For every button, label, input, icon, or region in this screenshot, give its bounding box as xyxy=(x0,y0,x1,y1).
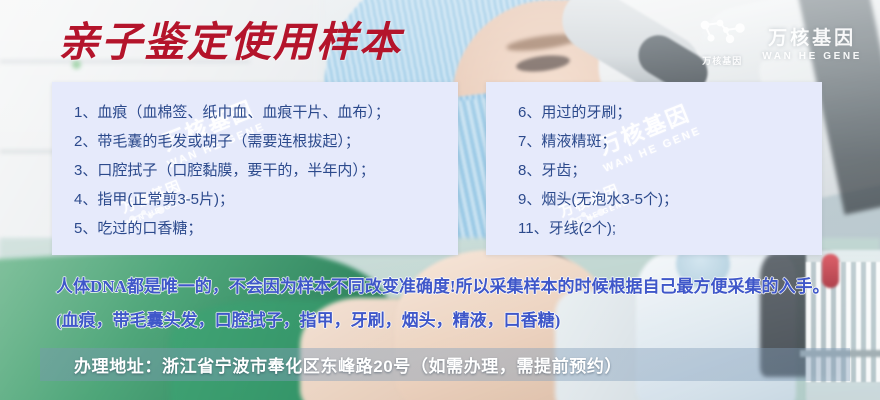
page-title: 亲子鉴定使用样本 xyxy=(58,16,402,68)
poster: 亲子鉴定使用样本 xyxy=(0,0,880,400)
list-item: 3、口腔拭子（口腔黏膜，要干的，半年内）； xyxy=(74,156,458,185)
list-item: 8、牙齿； xyxy=(518,156,822,185)
address-line: 办理地址：浙江省宁波市奉化区东峰路20号（如需办理，需提前预约） xyxy=(74,349,864,380)
brand-logo: 万核基因 万核基因 WAN HE GENE xyxy=(696,18,862,66)
list-item: 1、血痕（血棉签、纸巾血、血痕干片、血布）； xyxy=(74,98,458,127)
list-item: 6、用过的牙刷； xyxy=(518,98,822,127)
list-item: 11、牙线(2个); xyxy=(518,214,822,243)
logo-mark: 万核基因 xyxy=(696,17,748,67)
logo-wordmark: 万核基因 WAN HE GENE xyxy=(762,23,862,62)
logo-name-en: WAN HE GENE xyxy=(762,51,862,62)
logo-mark-label: 万核基因 xyxy=(702,54,742,67)
sample-list-left: 1、血痕（血棉签、纸巾血、血痕干片、血布）； 2、带毛囊的毛发或胡子（需要连根拔… xyxy=(52,82,458,243)
logo-name-cn: 万核基因 xyxy=(768,23,856,50)
list-item: 2、带毛囊的毛发或胡子（需要连根拔起）； xyxy=(74,127,458,156)
list-item: 7、精液精斑； xyxy=(518,127,822,156)
molecule-icon xyxy=(696,17,748,52)
sample-list-card-right: 6、用过的牙刷； 7、精液精斑； 8、牙齿； 9、烟头(无泡水3-5个)； 11… xyxy=(486,82,822,255)
sample-list-right: 6、用过的牙刷； 7、精液精斑； 8、牙齿； 9、烟头(无泡水3-5个)； 11… xyxy=(486,82,822,243)
description-paragraph: 人体DNA都是唯一的，不会因为样本不同改变准确度!所以采集样本的时候根据自己最方… xyxy=(56,270,846,338)
list-item: 9、烟头(无泡水3-5个)； xyxy=(518,185,822,214)
list-item: 5、吃过的口香糖； xyxy=(74,214,458,243)
list-item: 4、指甲(正常剪3-5片)； xyxy=(74,185,458,214)
sample-list-card-left: 1、血痕（血棉签、纸巾血、血痕干片、血布）； 2、带毛囊的毛发或胡子（需要连根拔… xyxy=(52,82,458,255)
